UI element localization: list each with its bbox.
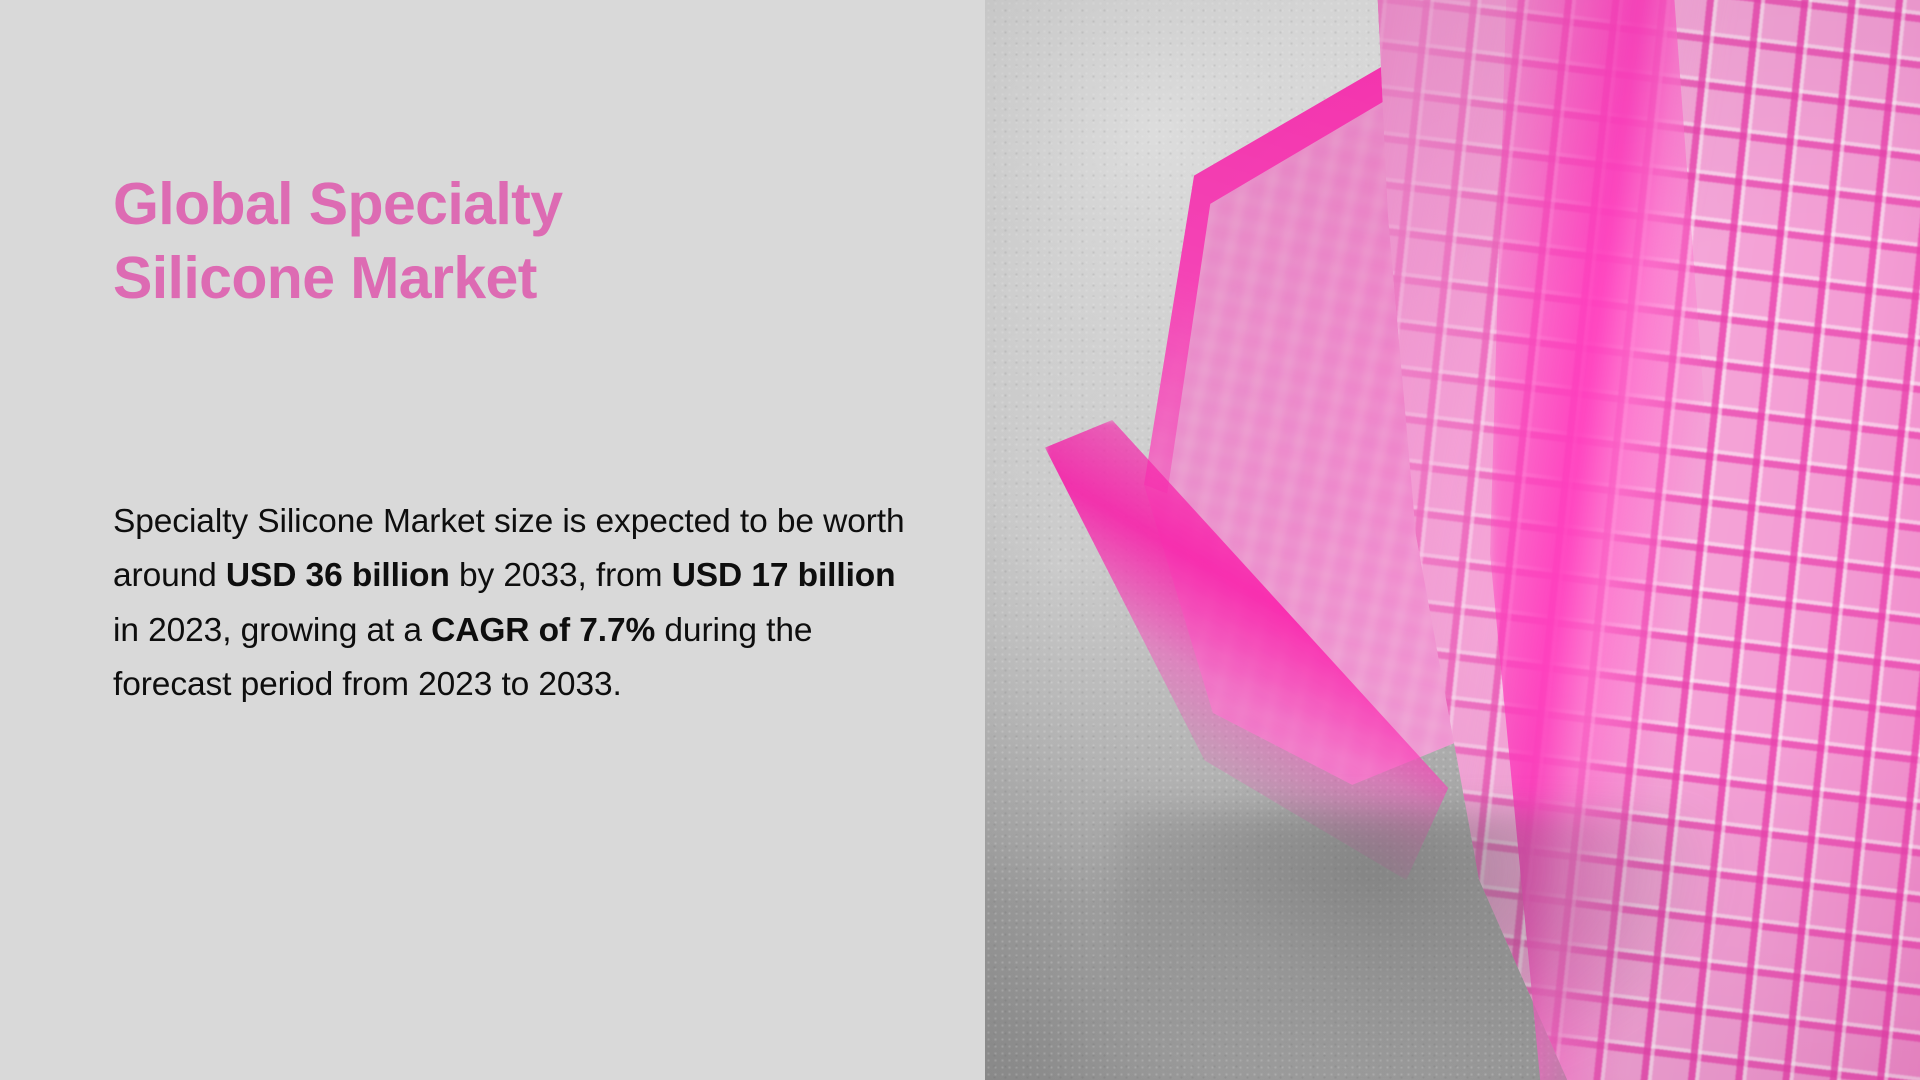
market-report-banner: Global Specialty Silicone Market Special… [0,0,1920,1080]
summary-segment-2: by 2033, from [450,557,672,594]
silicone-mat-drop-shadow [1115,810,1755,1080]
page-title-line-1: Global Specialty [113,168,813,242]
page-title: Global Specialty Silicone Market [113,168,813,316]
figure-market-value-2033: USD 36 billion [226,557,450,594]
figure-cagr: CAGR of 7.7% [431,612,655,649]
text-panel: Global Specialty Silicone Market Special… [0,0,985,1080]
market-summary-paragraph: Specialty Silicone Market size is expect… [113,495,913,712]
summary-segment-3: in 2023, growing at a [113,612,431,649]
page-title-line-2: Silicone Market [113,242,813,316]
figure-market-value-2023: USD 17 billion [672,557,896,594]
product-photo [985,0,1920,1080]
